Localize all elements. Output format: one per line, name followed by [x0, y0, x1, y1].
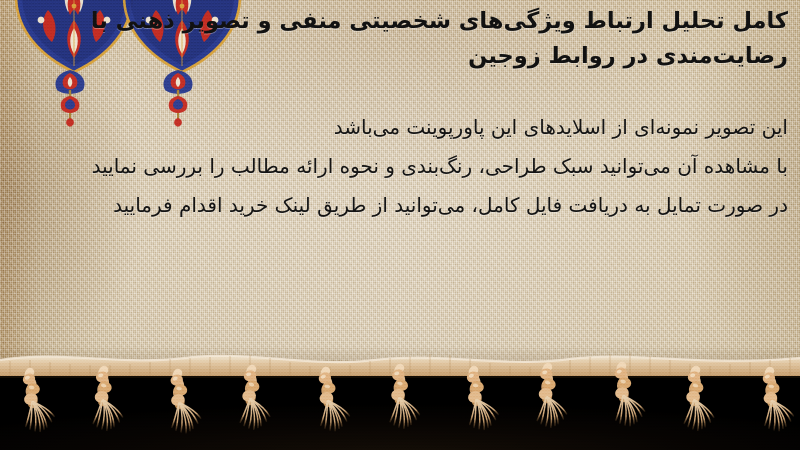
body-line-1: این تصویر نمونه‌ای از اسلایدهای این پاور… — [6, 108, 788, 147]
body-line-2: با مشاهده آن می‌توانید سبک طراحی، رنگ‌بن… — [6, 147, 788, 186]
slide-title: کامل تحلیل ارتباط ویژگی‌های شخصیتی منفی … — [228, 4, 788, 74]
title-line-2: رضایت‌مندی در روابط زوجین — [228, 39, 788, 74]
slide-body-text: این تصویر نمونه‌ای از اسلایدهای این پاور… — [6, 108, 788, 225]
footer-black-band — [0, 372, 800, 450]
presentation-slide: کامل تحلیل ارتباط ویژگی‌های شخصیتی منفی … — [0, 0, 800, 450]
body-line-3: در صورت تمایل به دریافت فایل کامل، می‌تو… — [6, 186, 788, 225]
title-line-1: کامل تحلیل ارتباط ویژگی‌های شخصیتی منفی … — [228, 4, 788, 39]
